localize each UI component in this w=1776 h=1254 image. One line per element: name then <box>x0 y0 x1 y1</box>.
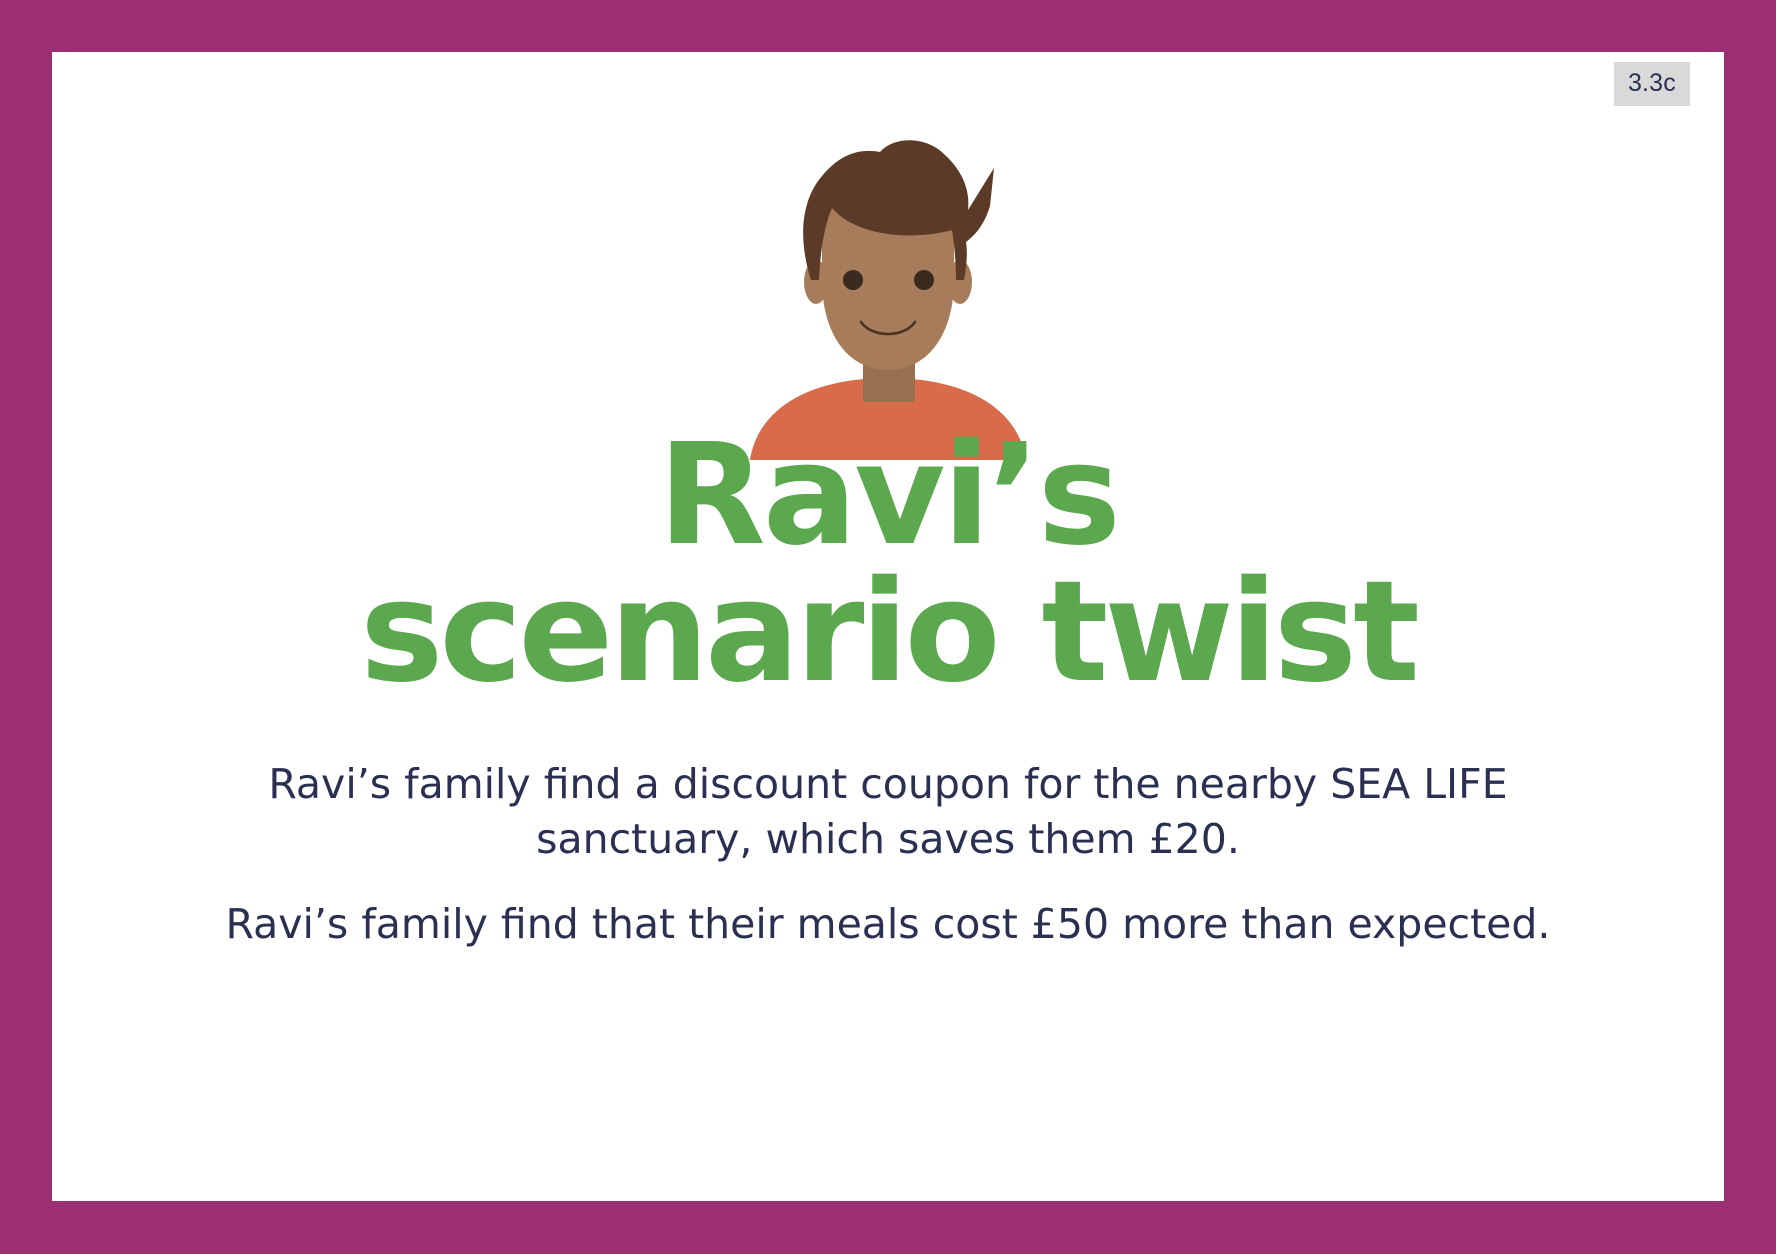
slide-number-badge: 3.3c <box>1614 62 1690 106</box>
ravi-avatar-illustration <box>748 130 1028 460</box>
avatar <box>52 130 1724 460</box>
page-title-line-2: scenario twist <box>52 564 1724 701</box>
page-title: Ravi’s scenario twist <box>52 427 1724 701</box>
avatar-eye-left-shape <box>843 270 863 290</box>
slide-root: 3.3c Ravi’s s <box>0 0 1776 1254</box>
body-text: Ravi’s family find a discount coupon for… <box>162 757 1614 952</box>
body-paragraph-1: Ravi’s family find a discount coupon for… <box>266 757 1511 867</box>
slide-card: 3.3c Ravi’s s <box>52 52 1724 1201</box>
body-paragraph-2: Ravi’s family find that their meals cost… <box>223 897 1553 952</box>
avatar-eye-right-shape <box>914 270 934 290</box>
page-title-line-1: Ravi’s <box>52 427 1724 564</box>
